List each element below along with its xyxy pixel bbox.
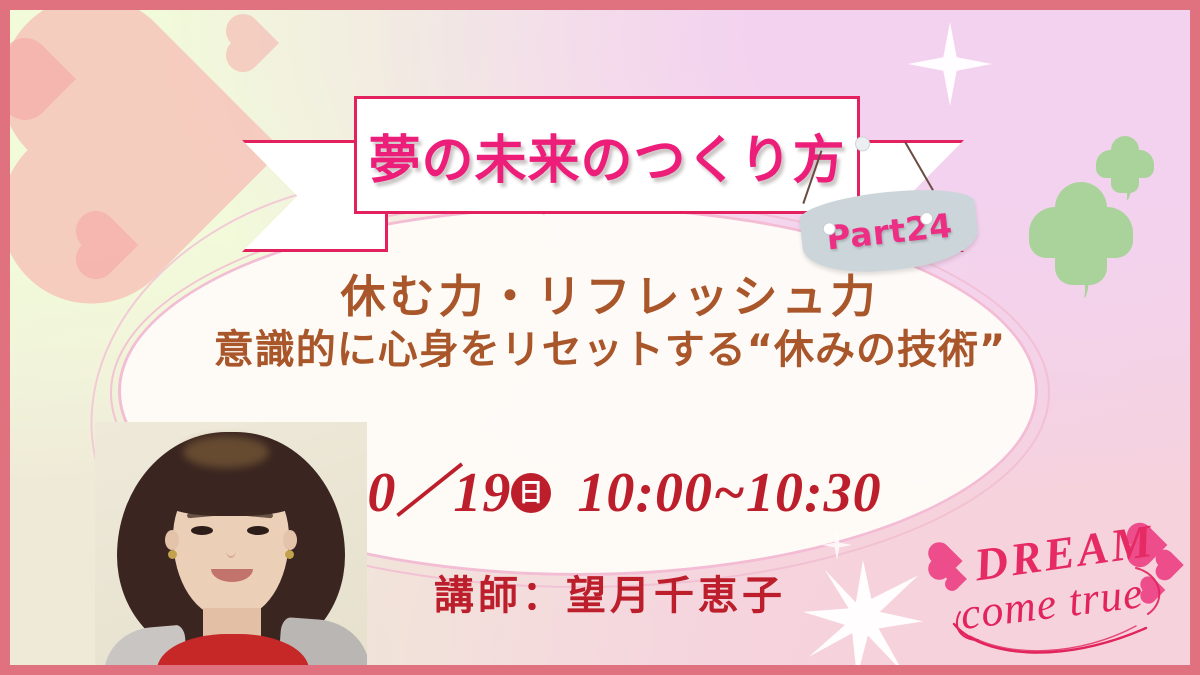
clover-icon-small	[1094, 136, 1156, 198]
poster-inner-frame: 夢の未来のつくり方 Part24 休む力・リフレッシュ力 意識的に心身をリセット…	[10, 10, 1190, 665]
ribbon-title: 夢の未来のつくり方	[368, 118, 845, 193]
heart-decoration-tiny	[231, 19, 279, 67]
sign-board: Part24	[798, 183, 981, 279]
brand-logo: DREAM come true	[940, 516, 1190, 665]
schedule-time: 10:00~10:30	[577, 462, 881, 524]
day-of-week-badge: 日	[511, 473, 551, 513]
sign-label: Part24	[824, 205, 954, 257]
headline-line2: 意識的に心身をリセットする“休みの技術”	[10, 326, 1190, 374]
headline-block: 休む力・リフレッシュ力 意識的に心身をリセットする“休みの技術”	[10, 272, 1190, 374]
ribbon-main-panel: 夢の未来のつくり方	[354, 96, 860, 214]
headline-line1: 休む力・リフレッシュ力	[10, 272, 1190, 322]
poster-canvas: 夢の未来のつくり方 Part24 休む力・リフレッシュ力 意識的に心身をリセット…	[0, 0, 1200, 675]
instructor-photo	[95, 422, 367, 665]
logo-flourish	[940, 516, 1190, 665]
